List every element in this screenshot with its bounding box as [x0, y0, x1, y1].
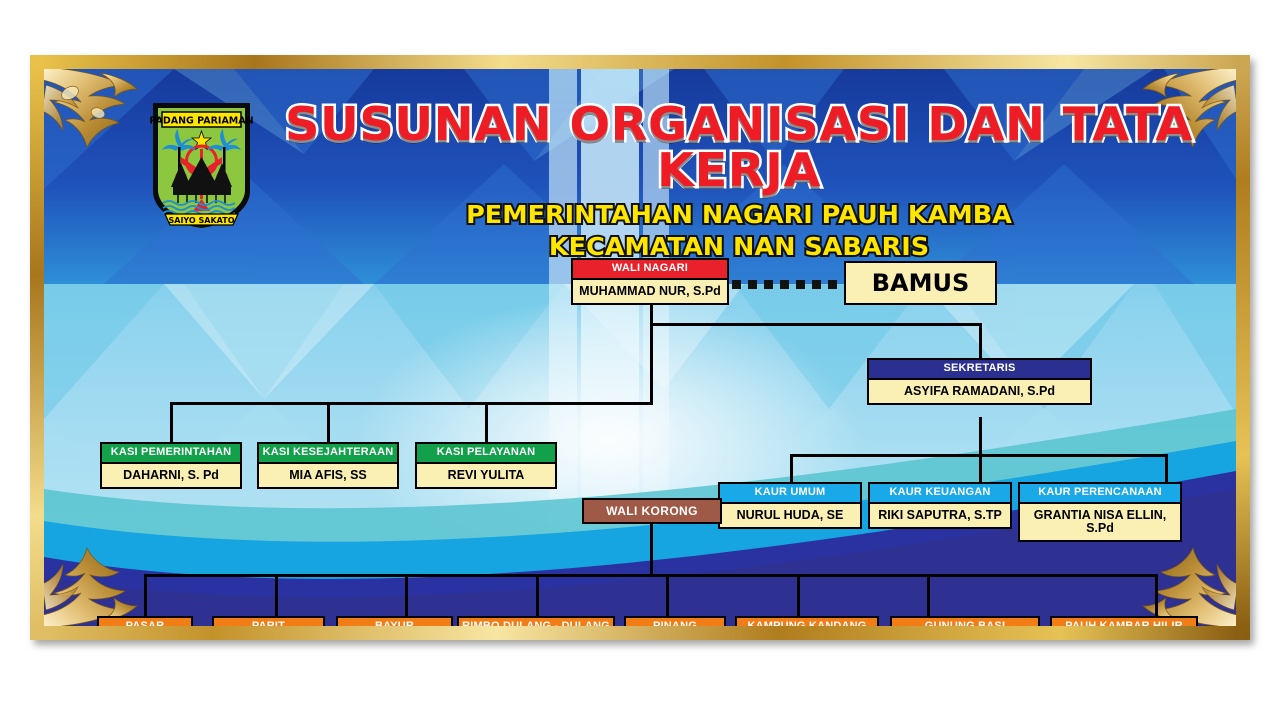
connector-to-sekretaris: [650, 323, 982, 326]
node-korong-bayur[interactable]: BAYUR RUDI HARTONO: [336, 616, 453, 626]
connector-sekretaris-drop: [979, 323, 982, 358]
connector-sekretaris-down: [979, 417, 982, 456]
connector-korong-8: [1155, 574, 1158, 616]
node-title: KAUR UMUM: [720, 484, 860, 504]
connector-kasi-bus: [170, 402, 653, 405]
node-korong-kampung-kandang[interactable]: KAMPUNG KANDANG DARWIN: [735, 616, 879, 626]
node-korong-parit[interactable]: PARIT AGUSNALDI: [212, 616, 325, 626]
node-kaur-keuangan[interactable]: KAUR KEUANGAN RIKI SAPUTRA, S.TP: [868, 482, 1012, 529]
node-kasi-pelayanan[interactable]: KASI PELAYANAN REVI YULITA: [415, 442, 557, 489]
node-name: RIKI SAPUTRA, S.TP: [870, 504, 1010, 527]
node-title: PARIT: [214, 618, 323, 626]
node-title: KAMPUNG KANDANG: [737, 618, 877, 626]
node-title: KASI PEMERINTAHAN: [102, 444, 240, 464]
node-title: KASI PELAYANAN: [417, 444, 555, 464]
node-title: PAUH KAMBAR HILIR: [1052, 618, 1196, 626]
connector-wali-trunk: [650, 305, 653, 404]
connector-korong-3: [405, 574, 408, 616]
node-kaur-perencanaan[interactable]: KAUR PERENCANAAN GRANTIA NISA ELLIN, S.P…: [1018, 482, 1182, 542]
node-kasi-kesejahteraan[interactable]: KASI KESEJAHTERAAN MIA AFIS, SS: [257, 442, 399, 489]
node-wali-nagari[interactable]: WALI NAGARI MUHAMMAD NUR, S.Pd: [571, 258, 729, 305]
connector-kasi-2: [327, 402, 330, 442]
node-name: REVI YULITA: [417, 464, 555, 487]
connector-korong-1: [144, 574, 147, 616]
node-name: MIA AFIS, SS: [259, 464, 397, 487]
connector-korong-7: [927, 574, 930, 616]
organization-chart-poster: PADANG PARIAMAN: [30, 55, 1250, 640]
node-korong-pasar[interactable]: PASAR ARWIN: [97, 616, 193, 626]
connector-korong-4: [536, 574, 539, 616]
node-wali-korong-label[interactable]: WALI KORONG: [582, 498, 722, 524]
node-korong-gunung-basi[interactable]: GUNUNG BASI ALHADI IKHSAN, S. Pd: [890, 616, 1040, 626]
node-korong-pinang[interactable]: PINANG BAZARUDDIN: [624, 616, 726, 626]
org-chart: WALI NAGARI MUHAMMAD NUR, S.Pd BAMUS SEK…: [44, 69, 1236, 626]
node-bamus[interactable]: BAMUS: [844, 261, 997, 305]
connector-korong-5: [666, 574, 669, 616]
node-title: PASAR: [99, 618, 191, 626]
connector-kasi-1: [170, 402, 173, 442]
node-korong-rimbo-dulang-dulang[interactable]: RIMBO DULANG - DULANG INDRA YANTO, A.Md …: [457, 616, 615, 626]
node-title: KASI KESEJAHTERAAN: [259, 444, 397, 464]
node-title: PINANG: [626, 618, 724, 626]
node-title: RIMBO DULANG - DULANG: [459, 618, 613, 626]
node-title: WALI NAGARI: [573, 260, 727, 280]
node-title: KAUR KEUANGAN: [870, 484, 1010, 504]
node-name: GRANTIA NISA ELLIN, S.Pd: [1020, 504, 1180, 540]
node-name: DAHARNI, S. Pd: [102, 464, 240, 487]
node-name: MUHAMMAD NUR, S.Pd: [573, 280, 727, 303]
poster-canvas: PADANG PARIAMAN: [44, 69, 1236, 626]
node-korong-pauh-kambar-hilir[interactable]: PAUH KAMBAR HILIR ICHSAN: [1050, 616, 1198, 626]
node-sekretaris[interactable]: SEKRETARIS ASYIFA RAMADANI, S.Pd: [867, 358, 1092, 405]
node-kasi-pemerintahan[interactable]: KASI PEMERINTAHAN DAHARNI, S. Pd: [100, 442, 242, 489]
node-name: ASYIFA RAMADANI, S.Pd: [869, 380, 1090, 403]
connector-korong-trunk: [650, 524, 653, 576]
connector-kaur-2: [979, 454, 982, 482]
connector-kaur-1: [790, 454, 793, 482]
node-title: SEKRETARIS: [869, 360, 1090, 380]
node-kaur-umum[interactable]: KAUR UMUM NURUL HUDA, SE: [718, 482, 862, 529]
connector-kaur-3: [1165, 454, 1168, 482]
node-title: BAYUR: [338, 618, 451, 626]
connector-korong-2: [275, 574, 278, 616]
node-title: KAUR PERENCANAAN: [1020, 484, 1180, 504]
connector-korong-bus: [144, 574, 1155, 577]
connector-korong-6: [797, 574, 800, 616]
node-title: GUNUNG BASI: [892, 618, 1038, 626]
connector-kasi-3: [485, 402, 488, 442]
node-name: NURUL HUDA, SE: [720, 504, 860, 527]
